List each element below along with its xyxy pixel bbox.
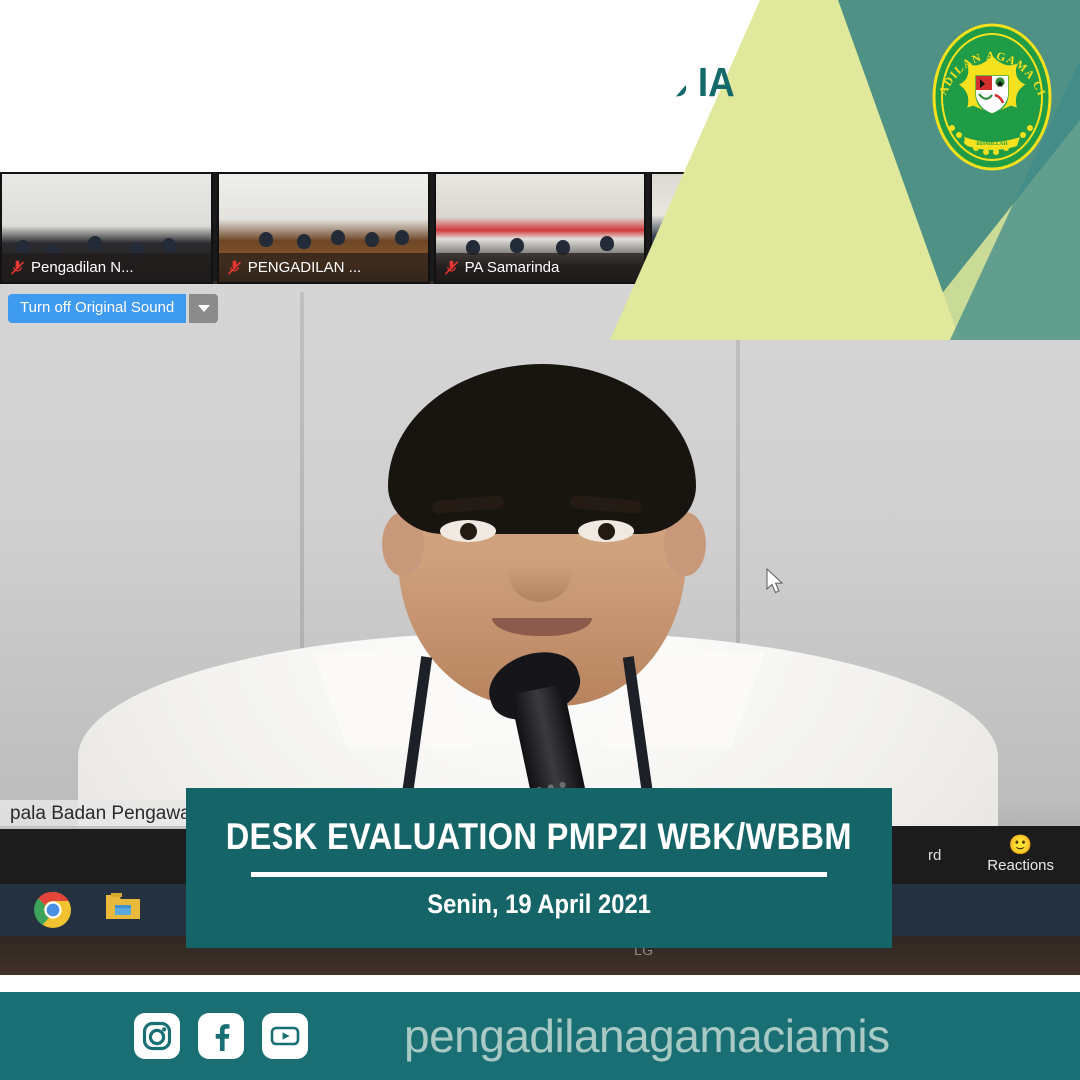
tile-label-text: PENGADILAN ... — [248, 259, 361, 276]
participant-tile[interactable]: PENGADILAN ... — [217, 172, 430, 284]
tile-label-text: PN Madiun — [898, 259, 972, 276]
social-links[interactable] — [134, 1013, 308, 1059]
active-speaker-video — [0, 284, 1080, 844]
facebook-icon[interactable] — [198, 1013, 244, 1059]
instagram-icon[interactable] — [134, 1013, 180, 1059]
mouse-cursor-icon — [766, 568, 786, 596]
event-date: Senin, 19 April 2021 — [427, 889, 651, 920]
header-band: MAHKAMAH AGUNG REPUBLIK INDONESIA PENGAD… — [0, 0, 1080, 172]
participant-tile[interactable]: Pengadilan N... — [0, 172, 213, 284]
social-handle: pengadilanagamaciamis — [404, 1009, 890, 1063]
youtube-icon[interactable] — [262, 1013, 308, 1059]
event-title-card: DESK EVALUATION PMPZI WBK/WBBM Senin, 19… — [186, 788, 892, 948]
file-explorer-icon[interactable] — [104, 891, 142, 929]
tile-label-text: PA Samarinda — [465, 259, 560, 276]
reactions-button[interactable]: 🙂 Reactions — [987, 836, 1054, 874]
toolbar-partial-item[interactable]: rd — [928, 847, 941, 864]
tile-label-text: Pengadilan N... — [31, 259, 134, 276]
chevron-down-icon[interactable] — [189, 294, 218, 323]
tile-label: PA Samarinda — [436, 253, 645, 282]
svg-text:BISMILLAH: BISMILLAH — [976, 141, 1008, 147]
tile-label: PENGADILAN ... — [219, 253, 428, 282]
poster-root: Pengadilan N... PENGADILAN ... — [0, 0, 1080, 1080]
original-sound-control[interactable]: Turn off Original Sound — [8, 294, 218, 323]
tile-label: PN Madiun — [869, 253, 1078, 282]
participant-tile[interactable]: PA Samarinda — [434, 172, 647, 284]
reactions-smiley-icon: 🙂 — [987, 836, 1054, 856]
speaker-nose — [508, 542, 572, 602]
participant-tile[interactable]: PN Tenggarong — [650, 172, 863, 284]
speaker-pupil-right — [598, 523, 615, 540]
tile-label: Pengadilan N... — [2, 253, 211, 282]
event-title: DESK EVALUATION PMPZI WBK/WBBM — [226, 816, 852, 858]
turn-off-original-sound-button[interactable]: Turn off Original Sound — [8, 294, 186, 323]
muted-mic-icon — [227, 260, 242, 276]
muted-mic-icon — [660, 260, 675, 276]
reactions-label: Reactions — [987, 857, 1054, 874]
footer-bar: pengadilanagamaciamis — [0, 992, 1080, 1080]
participant-thumbnail-strip[interactable]: Pengadilan N... PENGADILAN ... — [0, 172, 1080, 284]
muted-mic-icon — [10, 260, 25, 276]
participant-tile[interactable]: PN Madiun — [867, 172, 1080, 284]
muted-mic-icon — [444, 260, 459, 276]
footer-gap — [0, 975, 1080, 992]
title-divider — [251, 872, 827, 877]
tile-label-text: PN Tenggarong — [681, 259, 785, 276]
tile-label: PN Tenggarong — [652, 253, 861, 282]
muted-mic-icon — [877, 260, 892, 276]
court-seal-logo: PENGADILAN AGAMA CIAMIS — [930, 22, 1054, 172]
chrome-icon[interactable] — [34, 891, 72, 929]
header-white-backdrop — [0, 0, 1080, 172]
speaker-pupil-left — [460, 523, 477, 540]
